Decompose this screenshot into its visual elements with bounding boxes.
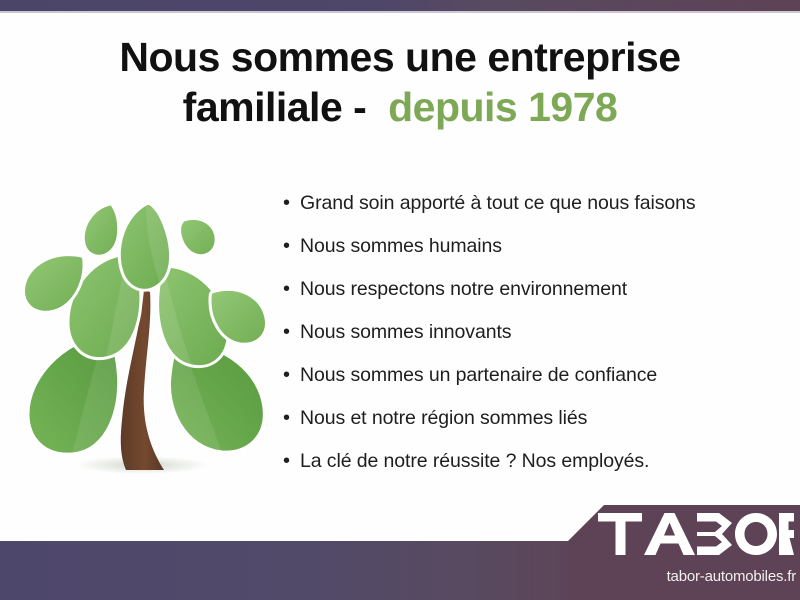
brand-logo-panel: tabor-automobiles.fr (560, 505, 800, 600)
brand-url-label: tabor-automobiles.fr (598, 568, 796, 585)
list-item: • Grand soin apporté à tout ce que nous … (283, 192, 783, 235)
list-item: • Nous et notre région sommes liés (283, 407, 783, 450)
bullet-dot-icon: • (283, 236, 300, 256)
tree-illustration (18, 182, 270, 492)
list-item-label: Nous respectons notre environnement (300, 278, 627, 301)
tree-leaf-top-center (119, 203, 170, 290)
title-line-2-accent: depuis 1978 (388, 84, 617, 130)
top-accent-band (0, 0, 800, 11)
bullet-dot-icon: • (283, 322, 300, 342)
title-line-1: Nous sommes une entreprise (0, 32, 800, 82)
list-item: • La clé de notre réussite ? Nos employé… (283, 450, 783, 493)
page-title: Nous sommes une entreprise familiale - d… (0, 32, 800, 132)
list-item-label: Nous et notre région sommes liés (300, 407, 587, 430)
title-line-2: familiale - depuis 1978 (0, 82, 800, 132)
top-band-hairline (0, 11, 800, 13)
list-item-label: Nous sommes innovants (300, 321, 511, 344)
tree-leaf-top-right (180, 218, 217, 255)
list-item: • Nous sommes innovants (283, 321, 783, 364)
bullet-dot-icon: • (283, 451, 300, 471)
list-item: • Nous sommes un partenaire de confiance (283, 364, 783, 407)
bullet-dot-icon: • (283, 408, 300, 428)
slide-canvas: Nous sommes une entreprise familiale - d… (0, 0, 800, 600)
list-item-label: Grand soin apporté à tout ce que nous fa… (300, 192, 696, 215)
list-item: • Nous sommes humains (283, 235, 783, 278)
tabor-wordmark-icon (598, 513, 794, 555)
title-line-2-plain: familiale - (183, 84, 367, 130)
bullet-dot-icon: • (283, 193, 300, 213)
list-item: • Nous respectons notre environnement (283, 278, 783, 321)
bullet-list: • Grand soin apporté à tout ce que nous … (283, 192, 783, 493)
tree-leaf-top-left (83, 204, 119, 257)
list-item-label: Nous sommes un partenaire de confiance (300, 364, 657, 387)
bullet-dot-icon: • (283, 365, 300, 385)
list-item-label: La clé de notre réussite ? Nos employés. (300, 450, 649, 473)
bullet-dot-icon: • (283, 279, 300, 299)
list-item-label: Nous sommes humains (300, 235, 502, 258)
